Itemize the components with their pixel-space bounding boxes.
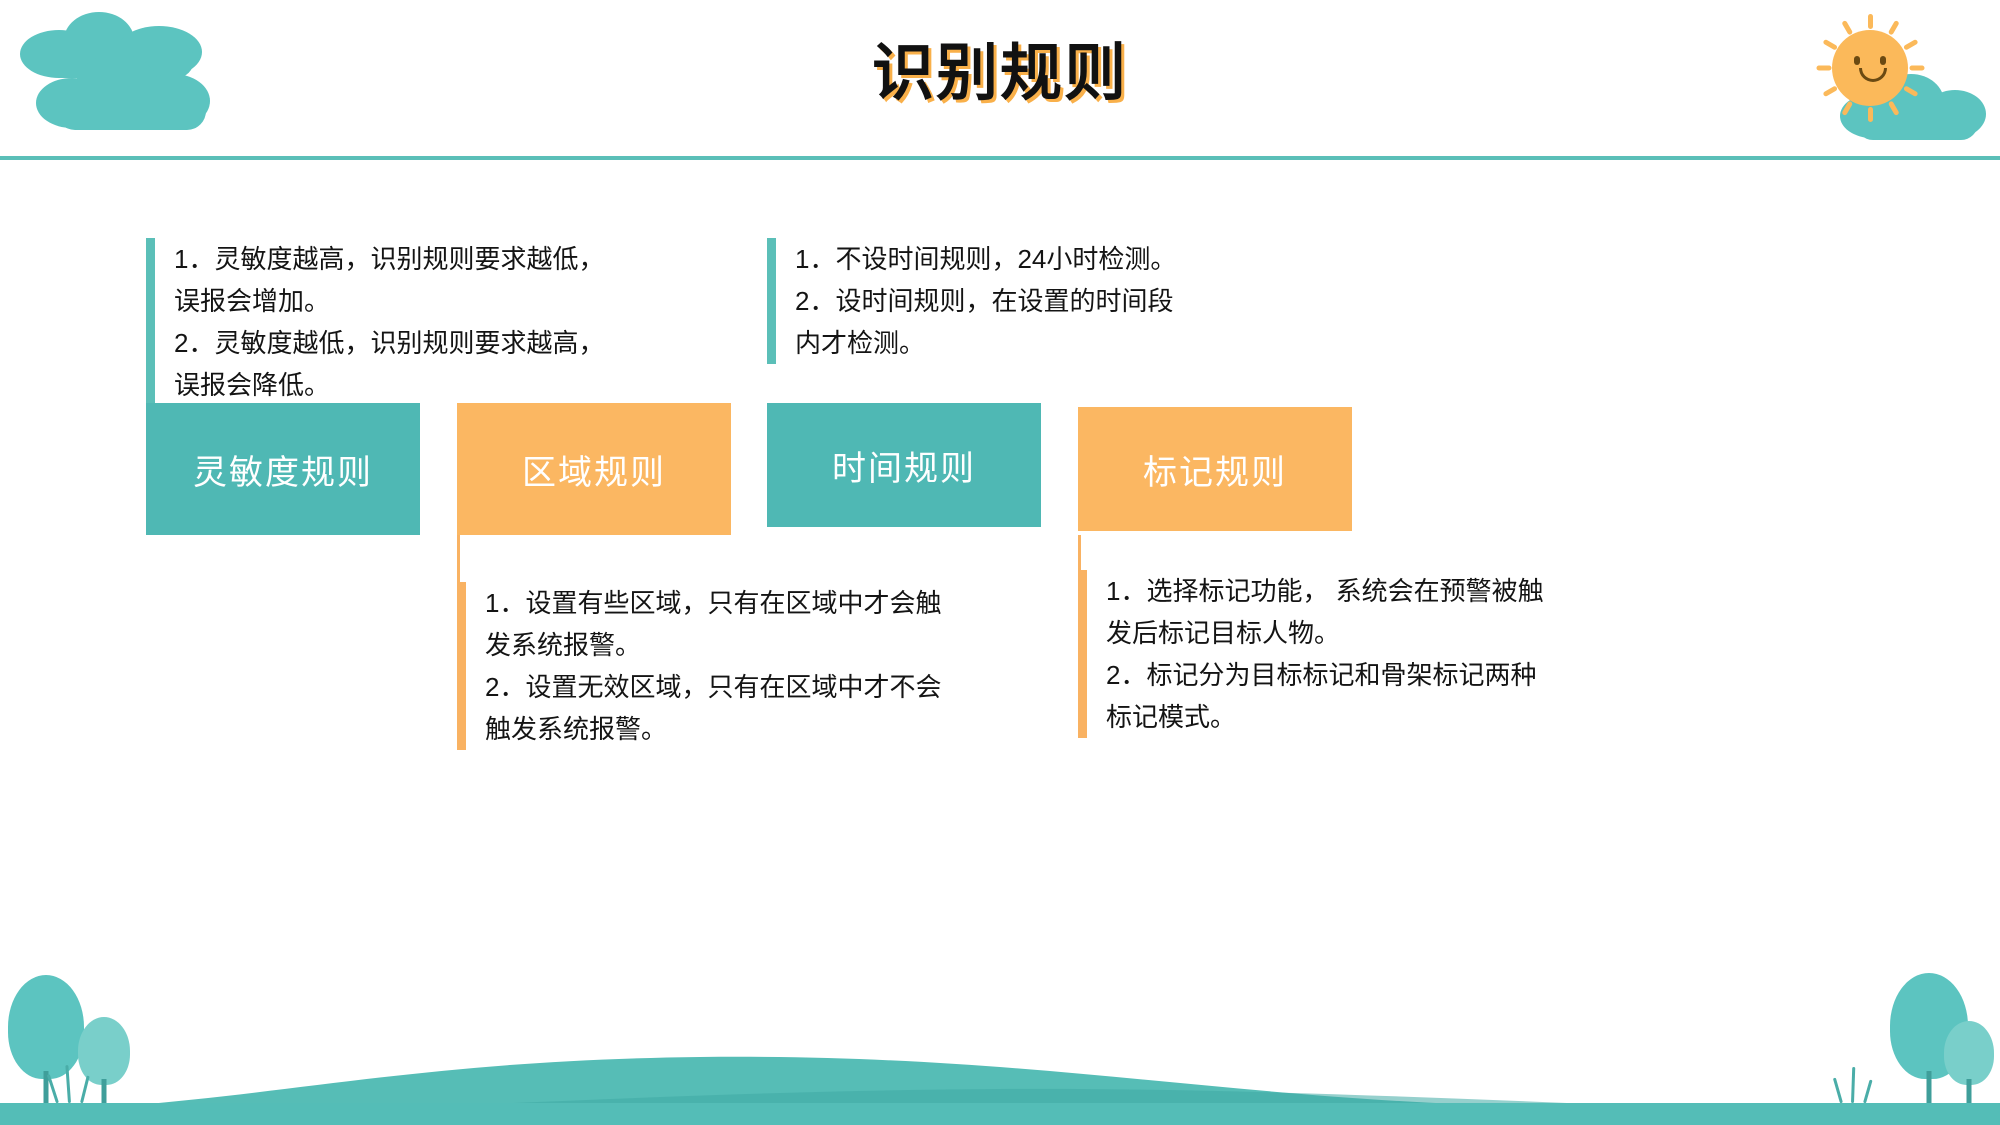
rule-box-label: 区域规则 — [522, 445, 666, 494]
text-block-area: 1．设置有些区域，只有在区域中才会触 发系统报警。 2．设置无效区域，只有在区域… — [457, 582, 1037, 750]
rule-box-sensitivity[interactable]: 灵敏度规则 — [146, 403, 420, 535]
rule-box-label: 时间规则 — [832, 441, 976, 490]
text-block-area-body: 1．设置有些区域，只有在区域中才会触 发系统报警。 2．设置无效区域，只有在区域… — [457, 582, 1037, 750]
header-divider — [0, 156, 2000, 160]
grass-icon — [52, 1063, 112, 1103]
text-block-sensitivity-body: 1．灵敏度越高，识别规则要求越低， 误报会增加。 2．灵敏度越低，识别规则要求越… — [146, 238, 706, 406]
tree-icon — [1944, 1021, 1994, 1103]
rule-box-label: 灵敏度规则 — [193, 445, 373, 494]
rule-box-mark[interactable]: 标记规则 — [1078, 407, 1352, 531]
text-block-sensitivity: 1．灵敏度越高，识别规则要求越低， 误报会增加。 2．灵敏度越低，识别规则要求越… — [146, 238, 706, 406]
accent-bar — [767, 238, 776, 364]
footer-bar — [0, 1103, 2000, 1125]
text-block-mark-body: 1．选择标记功能， 系统会在预警被触 发后标记目标人物。 2．标记分为目标标记和… — [1078, 570, 1678, 738]
page-title: 识别规则 — [0, 22, 2000, 112]
text-block-time: 1．不设时间规则，24小时检测。 2．设时间规则，在设置的时间段 内才检测。 — [767, 238, 1287, 364]
grass-icon — [1836, 1063, 1896, 1103]
text-block-mark: 1．选择标记功能， 系统会在预警被触 发后标记目标人物。 2．标记分为目标标记和… — [1078, 570, 1678, 738]
accent-bar — [457, 582, 466, 750]
accent-bar — [1078, 570, 1087, 738]
rule-box-label: 标记规则 — [1143, 445, 1287, 494]
rule-box-area[interactable]: 区域规则 — [457, 403, 731, 535]
accent-bar — [146, 238, 155, 406]
connector-line-area — [457, 535, 460, 585]
text-block-time-body: 1．不设时间规则，24小时检测。 2．设时间规则，在设置的时间段 内才检测。 — [767, 238, 1287, 364]
slide-canvas: 识别规则 1．灵敏度越高，识别规则要求越低， 误报会增加。 2．灵敏度越低，识别… — [0, 0, 2000, 1125]
rule-box-time[interactable]: 时间规则 — [767, 403, 1041, 527]
